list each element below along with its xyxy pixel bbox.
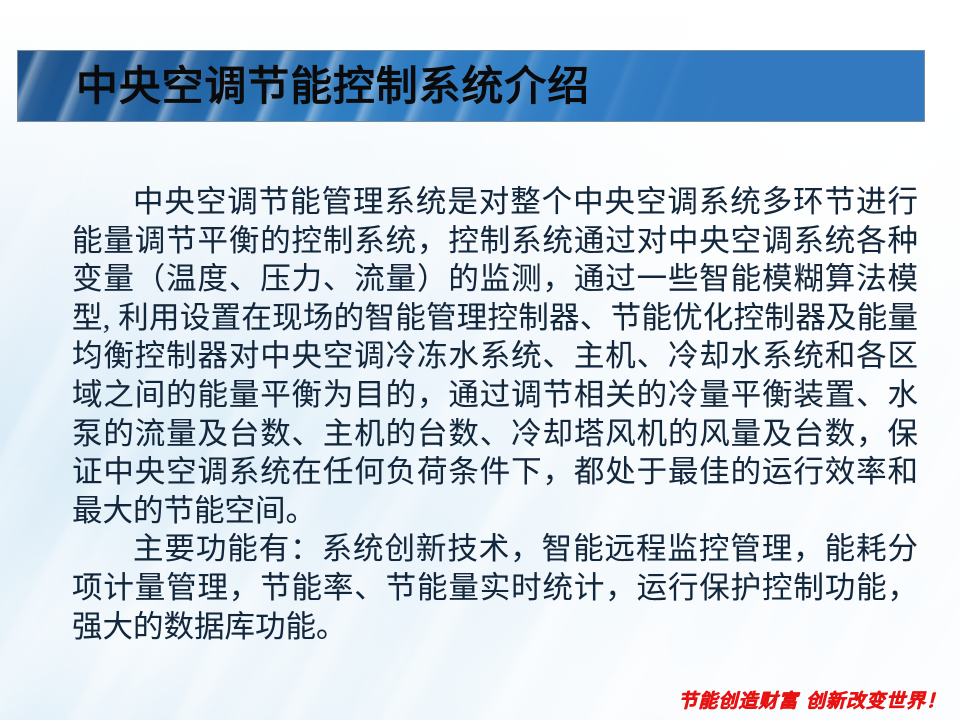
body-paragraph-2: 主要功能有：系统创新技术，智能远程监控管理，能耗分项计量管理，节能率、节能量实时…	[72, 530, 918, 646]
slide-canvas: 中央空调节能控制系统介绍 中央空调节能管理系统是对整个中央空调系统多环节进行能量…	[0, 0, 960, 720]
slide-body-text: 中央空调节能管理系统是对整个中央空调系统多环节进行能量调节平衡的控制系统，控制系…	[72, 183, 918, 646]
footer-slogan: 节能创造财富 创新改变世界！	[678, 691, 946, 711]
slide-title-bar: 中央空调节能控制系统介绍	[17, 50, 925, 122]
slide-title: 中央空调节能控制系统介绍	[76, 66, 590, 107]
body-paragraph-1: 中央空调节能管理系统是对整个中央空调系统多环节进行能量调节平衡的控制系统，控制系…	[72, 183, 918, 530]
